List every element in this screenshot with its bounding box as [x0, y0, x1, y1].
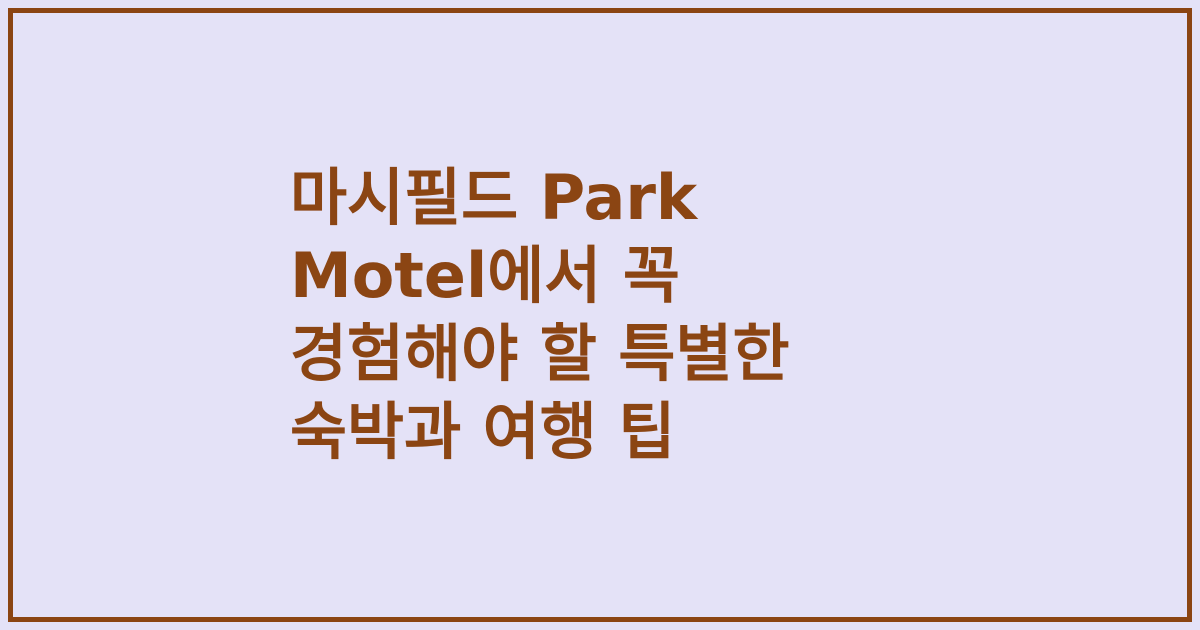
title-container: 마시필드 Park Motel에서 꼭 경험해야 할 특별한 숙박과 여행 팁 — [0, 0, 1200, 630]
page-title: 마시필드 Park Motel에서 꼭 경험해야 할 특별한 숙박과 여행 팁 — [290, 159, 910, 471]
og-image-card: 마시필드 Park Motel에서 꼭 경험해야 할 특별한 숙박과 여행 팁 — [0, 0, 1200, 630]
